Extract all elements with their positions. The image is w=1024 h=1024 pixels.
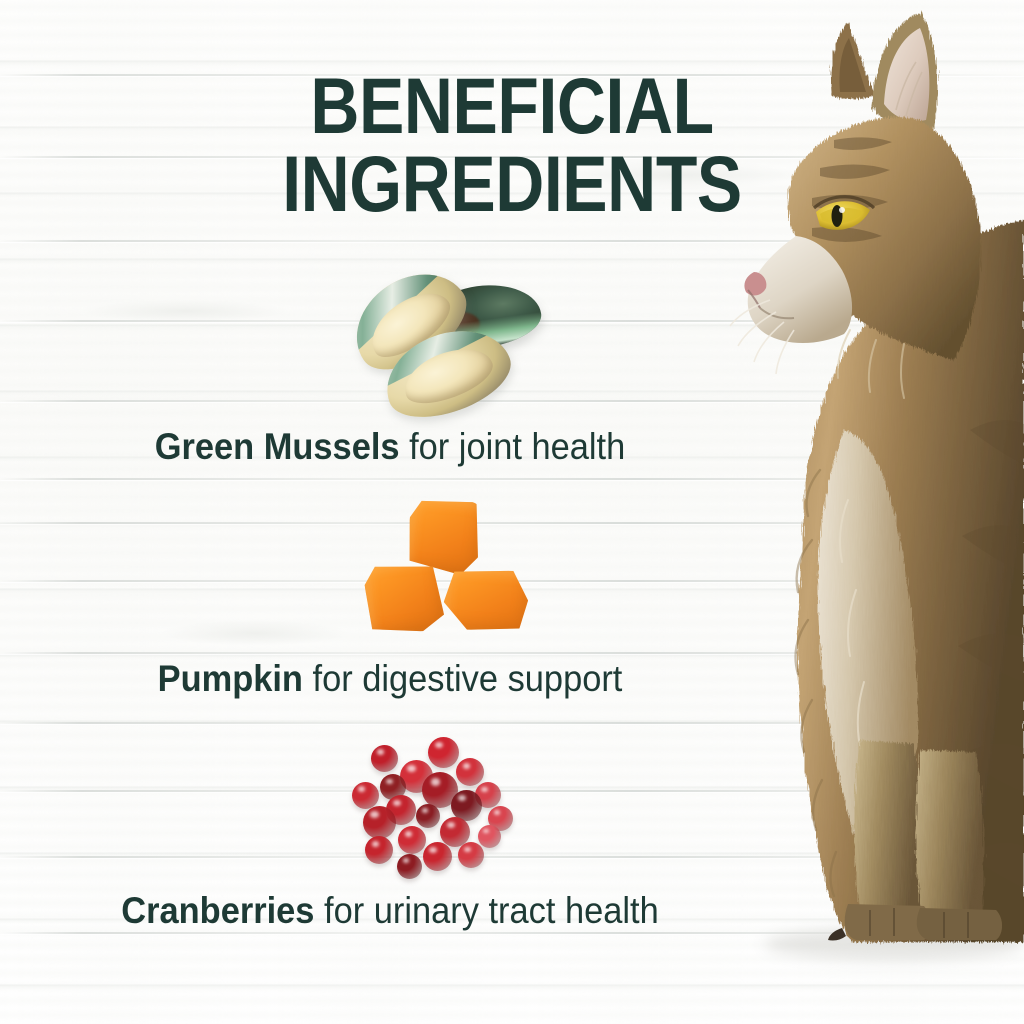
cat-paws <box>828 904 1002 941</box>
cat-front-legs <box>854 740 984 918</box>
pumpkin-cube <box>442 566 530 634</box>
caption-pumpkin: Pumpkin for digestive support <box>27 660 752 697</box>
cat-illustration <box>724 0 1024 1024</box>
green-mussels-photo <box>345 272 545 422</box>
ingredient-name-pumpkin: Pumpkin <box>158 658 303 699</box>
pumpkin-cube <box>404 495 483 576</box>
wood-knot <box>80 300 290 322</box>
pumpkin-cube <box>362 557 445 637</box>
ingredient-name-green-mussels: Green Mussels <box>155 426 400 467</box>
ingredient-benefit-cranberries: for urinary tract health <box>314 890 658 931</box>
ingredient-benefit-pumpkin: for digestive support <box>303 658 622 699</box>
ingredient-infographic: BENEFICIAL INGREDIENTS Green Mussels for… <box>0 0 1024 1024</box>
wood-knot <box>160 620 350 646</box>
ingredient-benefit-green-mussels: for joint health <box>400 426 626 467</box>
pumpkin-photo <box>360 495 545 640</box>
caption-cranberries: Cranberries for urinary tract health <box>27 892 752 929</box>
cat-photo <box>724 0 1024 1024</box>
caption-green-mussels: Green Mussels for joint health <box>27 428 752 465</box>
ingredient-name-cranberries: Cranberries <box>121 890 314 931</box>
